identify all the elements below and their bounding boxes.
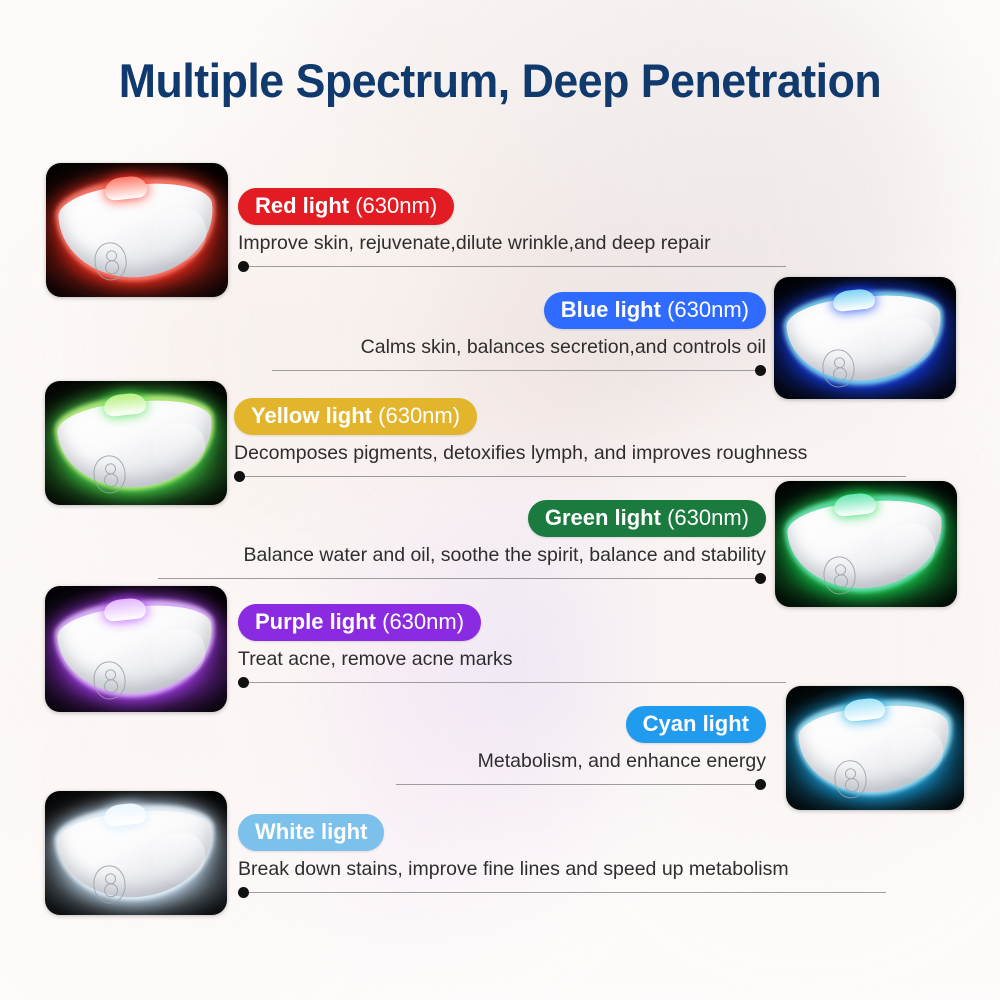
description-green: Balance water and oil, soothe the spirit… xyxy=(158,544,766,567)
description-yellow: Decomposes pigments, detoxifies lymph, a… xyxy=(234,442,906,465)
status-badge-red[interactable]: Red light (630nm) xyxy=(238,188,454,225)
badge-wrap-purple: Purple light (630nm) xyxy=(238,604,786,641)
row-yellow: Yellow light (630nm)Decomposes pigments,… xyxy=(234,398,906,482)
badge-wrap-cyan: Cyan light xyxy=(396,706,766,743)
connector-rule xyxy=(158,578,766,579)
status-badge-blue[interactable]: Blue light (630nm) xyxy=(544,292,766,329)
yellow-light-device-image xyxy=(45,381,227,505)
connector-dot xyxy=(234,471,245,482)
power-button-icon xyxy=(832,758,867,799)
nose-pad xyxy=(103,392,147,417)
description-white: Break down stains, improve fine lines an… xyxy=(238,858,886,881)
page-title: Multiple Spectrum, Deep Penetration xyxy=(25,56,975,105)
description-red: Improve skin, rejuvenate,dilute wrinkle,… xyxy=(238,232,786,255)
connector-rule xyxy=(396,784,766,785)
connector-line-white xyxy=(238,887,886,898)
connector-line-blue xyxy=(272,365,766,376)
power-button-icon xyxy=(93,241,128,282)
connector-line-green xyxy=(158,573,766,584)
product-infographic: Multiple Spectrum, Deep Penetration Red … xyxy=(0,0,1000,1000)
badge-wrap-blue: Blue light (630nm) xyxy=(272,292,766,329)
badge-wrap-yellow: Yellow light (630nm) xyxy=(234,398,906,435)
connector-line-yellow xyxy=(234,471,906,482)
connector-dot xyxy=(755,365,766,376)
badge-label: Red light xyxy=(255,193,349,218)
description-cyan: Metabolism, and enhance energy xyxy=(396,750,766,773)
led-mask-shell xyxy=(56,601,216,697)
led-mask-shell xyxy=(56,806,216,900)
connector-line-cyan xyxy=(396,779,766,790)
row-purple: Purple light (630nm)Treat acne, remove a… xyxy=(238,604,786,688)
badge-wavelength: (630nm) xyxy=(667,297,749,322)
led-mask-shell xyxy=(785,292,945,385)
row-white: White lightBreak down stains, improve fi… xyxy=(238,814,886,898)
purple-light-device-image xyxy=(45,586,227,712)
description-blue: Calms skin, balances secretion,and contr… xyxy=(272,336,766,359)
badge-label: White light xyxy=(255,819,367,844)
badge-wavelength: (630nm) xyxy=(667,505,749,530)
badge-label: Green light xyxy=(545,505,661,530)
led-mask-shell xyxy=(57,179,217,281)
badge-label: Cyan light xyxy=(643,711,749,736)
badge-wavelength: (630nm) xyxy=(382,609,464,634)
connector-dot xyxy=(755,573,766,584)
connector-rule xyxy=(238,266,786,267)
description-purple: Treat acne, remove acne marks xyxy=(238,648,786,671)
badge-wrap-red: Red light (630nm) xyxy=(238,188,786,225)
badge-label: Blue light xyxy=(561,297,661,322)
badge-wrap-green: Green light (630nm) xyxy=(158,500,766,537)
connector-dot xyxy=(755,779,766,790)
cyan-light-device-image xyxy=(786,686,964,810)
connector-dot xyxy=(238,887,249,898)
row-blue: Blue light (630nm)Calms skin, balances s… xyxy=(272,292,766,376)
connector-line-red xyxy=(238,261,786,272)
nose-pad xyxy=(843,697,886,722)
white-light-device-image xyxy=(45,791,227,915)
badge-wavelength: (630nm) xyxy=(378,403,460,428)
connector-rule xyxy=(238,682,786,683)
badge-wavelength: (630nm) xyxy=(355,193,437,218)
connector-rule xyxy=(234,476,906,477)
nose-pad xyxy=(103,802,147,827)
connector-dot xyxy=(238,677,249,688)
status-badge-yellow[interactable]: Yellow light (630nm) xyxy=(234,398,477,435)
led-mask-shell xyxy=(797,701,954,795)
connector-rule xyxy=(272,370,766,371)
status-badge-white[interactable]: White light xyxy=(238,814,384,851)
red-light-device-image xyxy=(46,163,228,297)
row-red: Red light (630nm)Improve skin, rejuvenat… xyxy=(238,188,786,272)
status-badge-cyan[interactable]: Cyan light xyxy=(626,706,766,743)
blue-light-device-image xyxy=(774,277,956,399)
connector-line-purple xyxy=(238,677,786,688)
badge-label: Yellow light xyxy=(251,403,372,428)
connector-rule xyxy=(238,892,886,893)
status-badge-purple[interactable]: Purple light (630nm) xyxy=(238,604,481,641)
badge-wrap-white: White light xyxy=(238,814,886,851)
status-badge-green[interactable]: Green light (630nm) xyxy=(528,500,766,537)
connector-dot xyxy=(238,261,249,272)
green-light-device-image xyxy=(775,481,957,607)
badge-label: Purple light xyxy=(255,609,376,634)
led-mask-shell xyxy=(56,396,216,490)
led-mask-shell xyxy=(786,496,946,592)
row-green: Green light (630nm)Balance water and oil… xyxy=(158,500,766,584)
row-cyan: Cyan lightMetabolism, and enhance energy xyxy=(396,706,766,790)
